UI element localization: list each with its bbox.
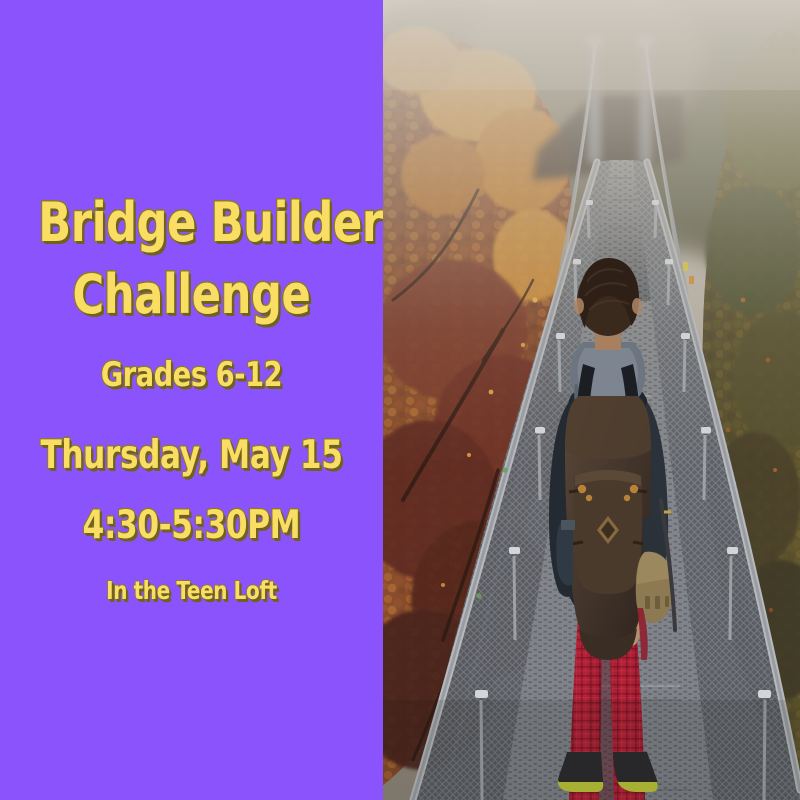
bridge-photo-illustration [383, 0, 800, 800]
event-location: In the Teen Loft [38, 578, 344, 603]
event-time: 4:30-5:30PM [38, 506, 344, 545]
event-grades: Grades 6-12 [38, 358, 344, 392]
event-date: Thursday, May 15 [38, 436, 344, 475]
bridge-photo [383, 0, 800, 800]
purple-text-panel: Bridge Builder Challenge Grades 6-12 Thu… [0, 0, 383, 800]
flyer-poster: Bridge Builder Challenge Grades 6-12 Thu… [0, 0, 800, 800]
event-title-line-1: Bridge Builder [38, 196, 344, 250]
text-stack: Bridge Builder Challenge Grades 6-12 Thu… [0, 0, 383, 800]
event-title-line-2: Challenge [38, 268, 344, 322]
